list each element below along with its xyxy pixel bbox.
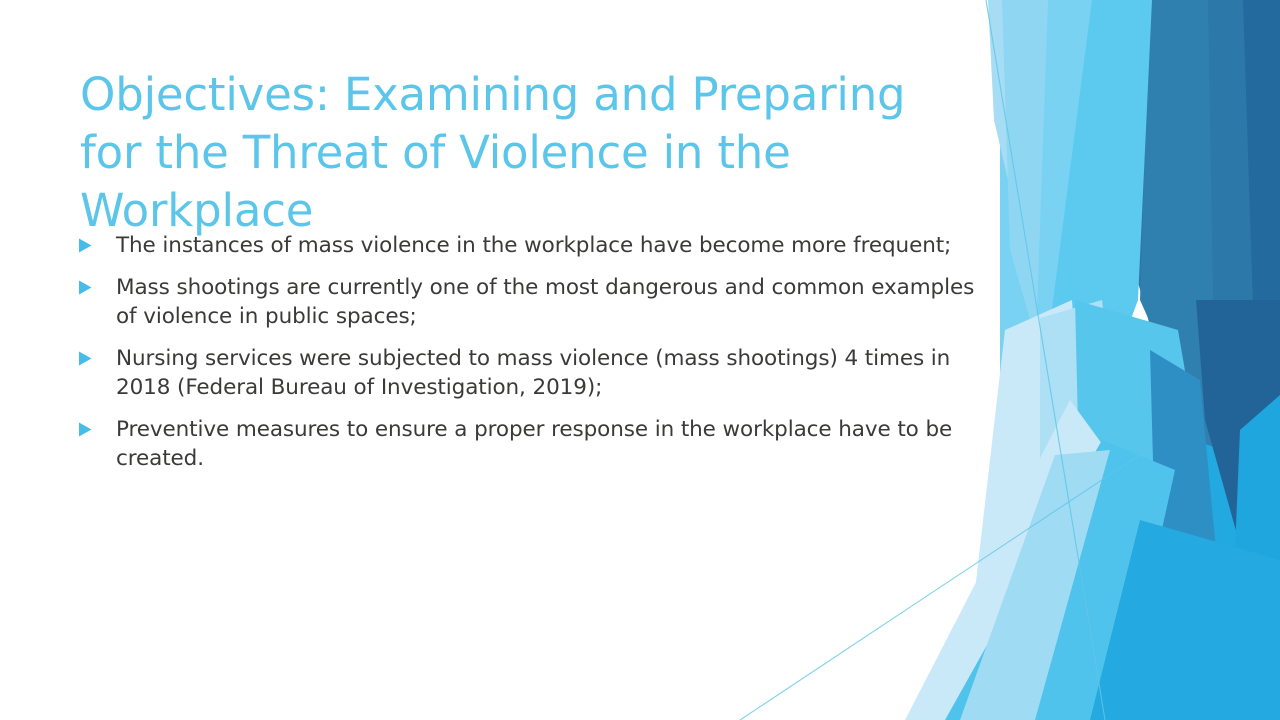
facet-hairline-steep bbox=[986, 0, 1105, 720]
facet-shape-azure-top bbox=[1048, 0, 1152, 470]
facet-shape-steel-inner bbox=[1140, 0, 1216, 470]
facet-shape-medium-strip bbox=[1150, 350, 1232, 720]
facet-shape-bright-azure bbox=[1122, 430, 1280, 720]
triangle-right-icon bbox=[78, 415, 116, 437]
facet-shape-light-mid bbox=[1040, 300, 1150, 720]
list-item-label: Preventive measures to ensure a proper r… bbox=[116, 415, 978, 474]
slide-content: Objectives: Examining and Preparing for … bbox=[0, 0, 1000, 720]
facet-shape-azure-mid bbox=[1075, 300, 1245, 720]
triangle-right-icon bbox=[78, 231, 116, 253]
facet-shape-dark-point bbox=[1196, 300, 1280, 545]
facet-shape-steel-top bbox=[1118, 0, 1260, 520]
bullet-list: The instances of mass violence in the wo… bbox=[78, 231, 978, 486]
list-item-label: Mass shootings are currently one of the … bbox=[116, 273, 978, 332]
facet-shape-bright-bottom bbox=[1090, 520, 1280, 720]
facet-shape-sky-top bbox=[1000, 0, 1150, 520]
list-item: The instances of mass violence in the wo… bbox=[78, 231, 978, 261]
triangle-right-icon bbox=[78, 344, 116, 366]
list-item-label: Nursing services were subjected to mass … bbox=[116, 344, 978, 403]
page-title: Objectives: Examining and Preparing for … bbox=[80, 66, 970, 240]
list-item: Preventive measures to ensure a proper r… bbox=[78, 415, 978, 474]
facet-shape-bright-right-bottom bbox=[1228, 395, 1280, 720]
list-item: Mass shootings are currently one of the … bbox=[78, 273, 978, 332]
list-item: Nursing services were subjected to mass … bbox=[78, 344, 978, 403]
facet-shape-deep-right bbox=[1148, 0, 1280, 430]
presentation-slide: Objectives: Examining and Preparing for … bbox=[0, 0, 1280, 720]
facet-shape-light-sliver bbox=[1002, 0, 1048, 340]
facet-shape-dark-edge bbox=[1232, 0, 1280, 470]
triangle-right-icon bbox=[78, 273, 116, 295]
list-item-label: The instances of mass violence in the wo… bbox=[116, 231, 978, 261]
